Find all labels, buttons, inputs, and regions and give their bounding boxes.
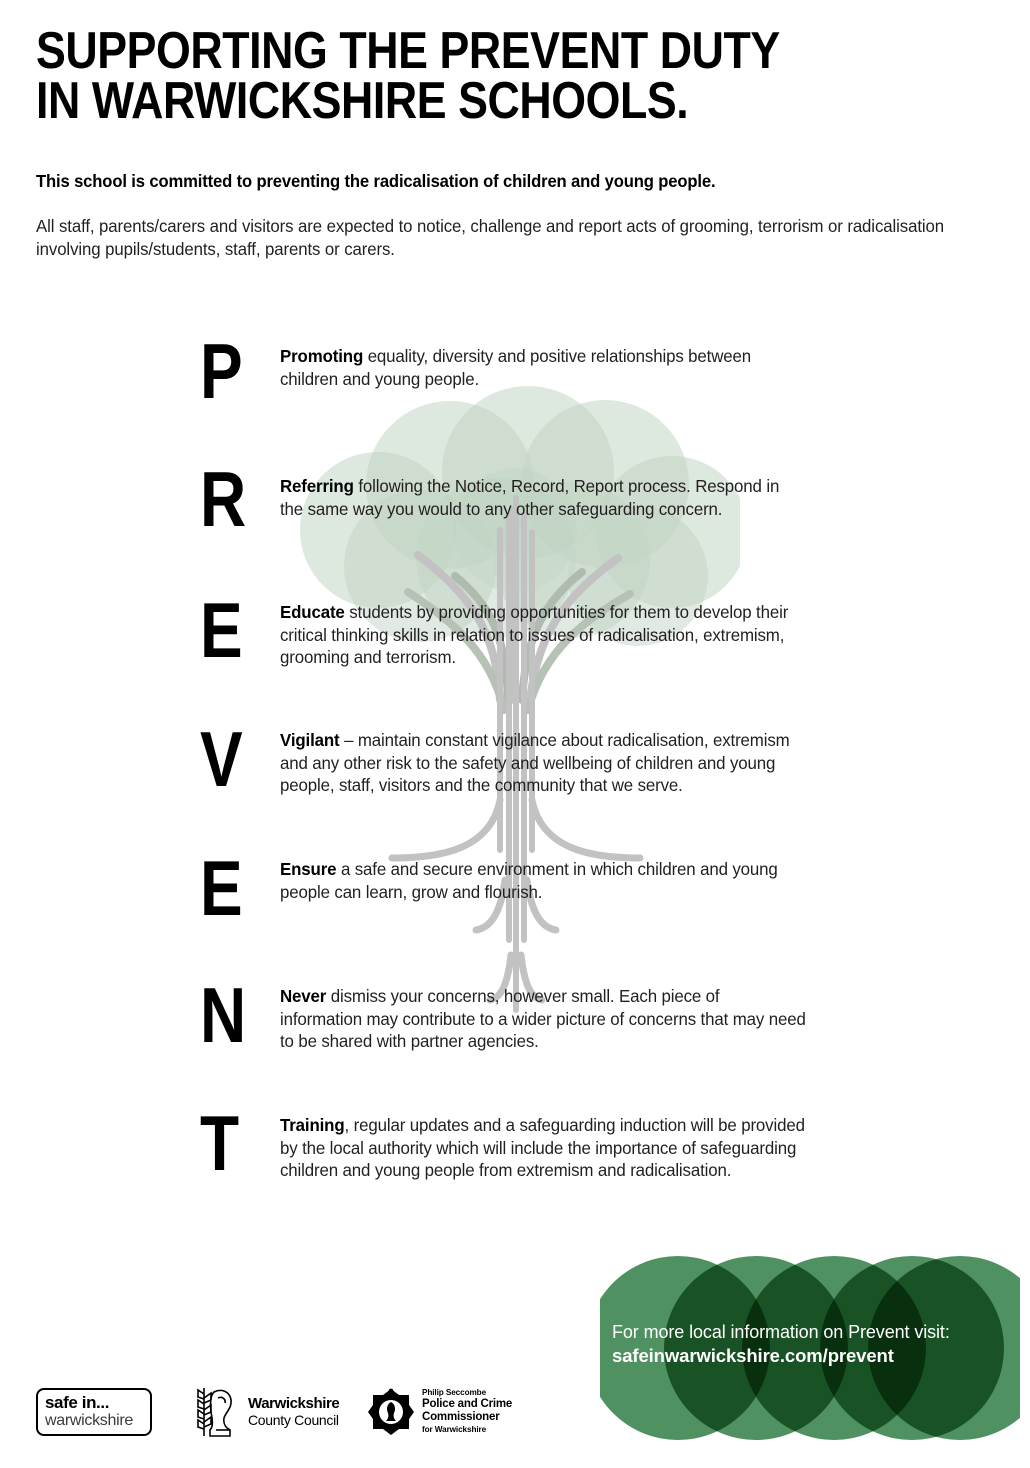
prevent-lead-vigilant: Vigilant [280, 730, 340, 750]
prevent-letter-e-first: E [200, 597, 242, 663]
prevent-text-never: Never dismiss your concerns, however sma… [280, 985, 806, 1053]
prevent-letter-v: V [200, 726, 242, 792]
prevent-rest-vigilant: – maintain constant vigilance about radi… [280, 730, 790, 795]
prevent-text-educate: Educate students by providing opportunit… [280, 601, 806, 669]
prevent-rest-training: , regular updates and a safeguarding ind… [280, 1115, 805, 1180]
prevent-text-ensure: Ensure a safe and secure environment in … [280, 858, 806, 903]
prevent-text-training: Training, regular updates and a safeguar… [280, 1114, 806, 1182]
prevent-acrostic-list: P Promoting equality, diversity and posi… [0, 0, 1030, 1468]
pcc-logo-wordmark: Philip Seccombe Police and Crime Commiss… [422, 1388, 542, 1435]
prevent-lead-ensure: Ensure [280, 859, 336, 879]
wcc-logo-line-2: County Council [248, 1412, 348, 1428]
wcc-logo-line-1: Warwickshire [248, 1396, 348, 1412]
police-crime-commissioner-logo: Philip Seccombe Police and Crime Commiss… [366, 1382, 546, 1444]
prevent-info-badge-text: For more local information on Prevent vi… [612, 1320, 1012, 1368]
prevent-rest-never: dismiss your concerns, however small. Ea… [280, 986, 806, 1051]
pcc-logo-line-1: Philip Seccombe [422, 1388, 542, 1398]
prevent-letter-r: R [200, 466, 245, 532]
prevent-letter-n: N [200, 982, 245, 1048]
prevent-lead-training: Training [280, 1115, 345, 1135]
bear-and-ragged-staff-icon [196, 1384, 242, 1440]
prevent-lead-referring: Referring [280, 476, 354, 496]
prevent-rest-educate: students by providing opportunities for … [280, 602, 788, 667]
safe-in-logo-line-1: safe in... [45, 1393, 150, 1412]
prevent-text-referring: Referring following the Notice, Record, … [280, 475, 806, 520]
prevent-lead-educate: Educate [280, 602, 345, 622]
warwickshire-county-council-logo: Warwickshire County Council [196, 1382, 346, 1444]
prevent-text-vigilant: Vigilant – maintain constant vigilance a… [280, 729, 806, 797]
pcc-logo-line-4: for Warwickshire [422, 1424, 542, 1435]
prevent-rest-ensure: a safe and secure environment in which c… [280, 859, 778, 902]
prevent-lead-never: Never [280, 986, 326, 1006]
pcc-logo-line-2: Police and Crime [422, 1398, 542, 1411]
safe-in-logo-line-2: warwickshire [45, 1412, 150, 1430]
prevent-letter-t: T [200, 1110, 238, 1176]
wcc-logo-wordmark: Warwickshire County Council [248, 1396, 348, 1428]
badge-website-url[interactable]: safeinwarwickshire.com/prevent [612, 1344, 1012, 1368]
prevent-letter-p: P [200, 338, 242, 404]
pcc-logo-line-3: Commissioner [422, 1411, 542, 1424]
partner-logo-strip: safe in... warwickshire [0, 1380, 600, 1460]
prevent-rest-referring: following the Notice, Record, Report pro… [280, 476, 779, 519]
prevent-letter-e-second: E [200, 855, 242, 921]
prevent-lead-promoting: Promoting [280, 346, 363, 366]
badge-info-line: For more local information on Prevent vi… [612, 1320, 1012, 1344]
police-crest-icon [366, 1385, 416, 1439]
safe-in-warwickshire-logo: safe in... warwickshire [36, 1388, 152, 1436]
prevent-text-promoting: Promoting equality, diversity and positi… [280, 345, 806, 390]
